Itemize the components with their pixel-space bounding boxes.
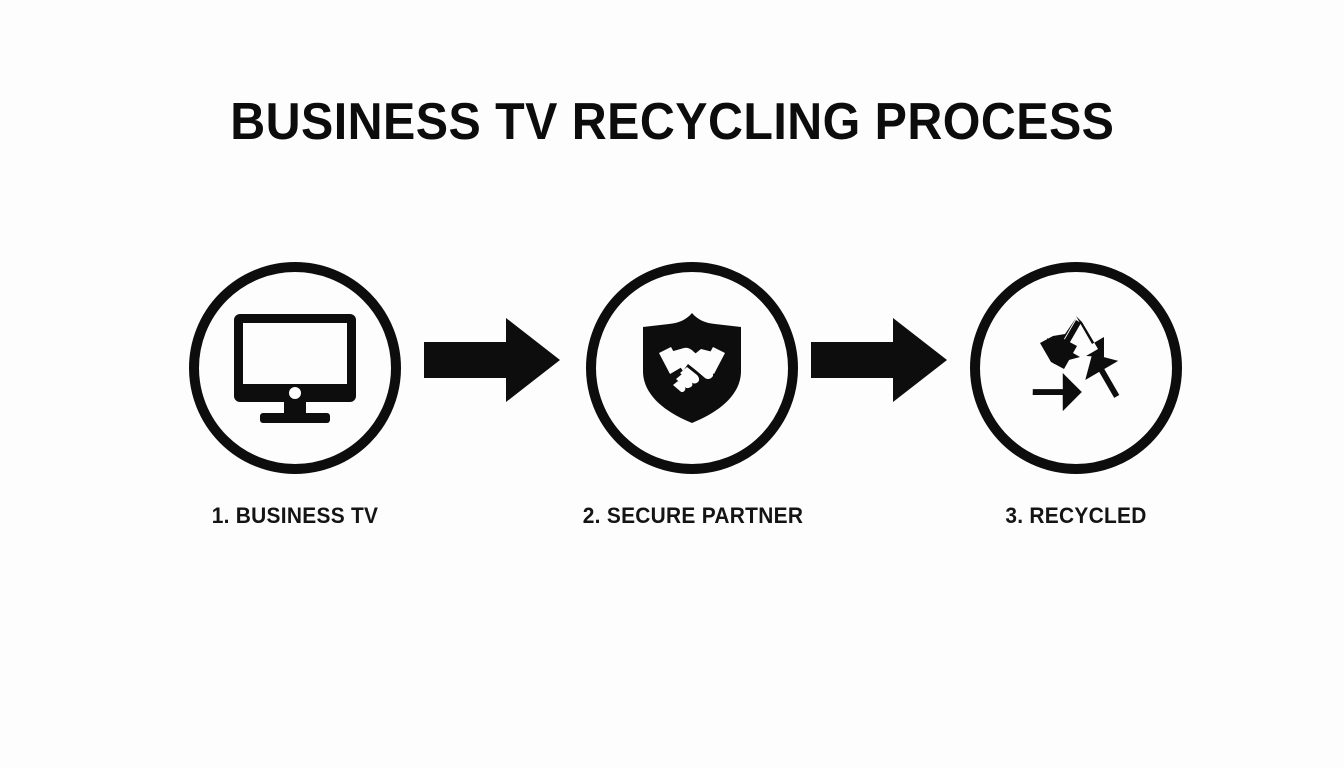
- step-3-label: 3. RECYCLED: [967, 502, 1186, 530]
- step-1-label: 1. BUSINESS TV: [186, 502, 405, 530]
- step-1-circle: [189, 262, 401, 474]
- recycling-icon: [1020, 312, 1132, 424]
- infographic-canvas: BUSINESS TV RECYCLING PROCESS: [0, 0, 1344, 768]
- process-step-business-tv[interactable]: 1. BUSINESS TV: [180, 262, 410, 530]
- step-2-label: 2. SECURE PARTNER: [583, 502, 802, 530]
- page-title: BUSINESS TV RECYCLING PROCESS: [230, 93, 1114, 151]
- step-3-circle: [970, 262, 1182, 474]
- arrow-step-1-to-2: [424, 318, 560, 402]
- step-2-circle: [586, 262, 798, 474]
- process-step-secure-partner[interactable]: 2. SECURE PARTNER: [577, 262, 807, 530]
- process-flow: 1. BUSINESS TV: [0, 262, 1344, 562]
- process-step-recycled[interactable]: 3. RECYCLED: [961, 262, 1191, 530]
- arrow-step-2-to-3: [811, 318, 947, 402]
- shield-handshake-icon: [639, 313, 745, 423]
- monitor-tv-icon: [234, 312, 356, 424]
- title-container: BUSINESS TV RECYCLING PROCESS: [0, 58, 1344, 186]
